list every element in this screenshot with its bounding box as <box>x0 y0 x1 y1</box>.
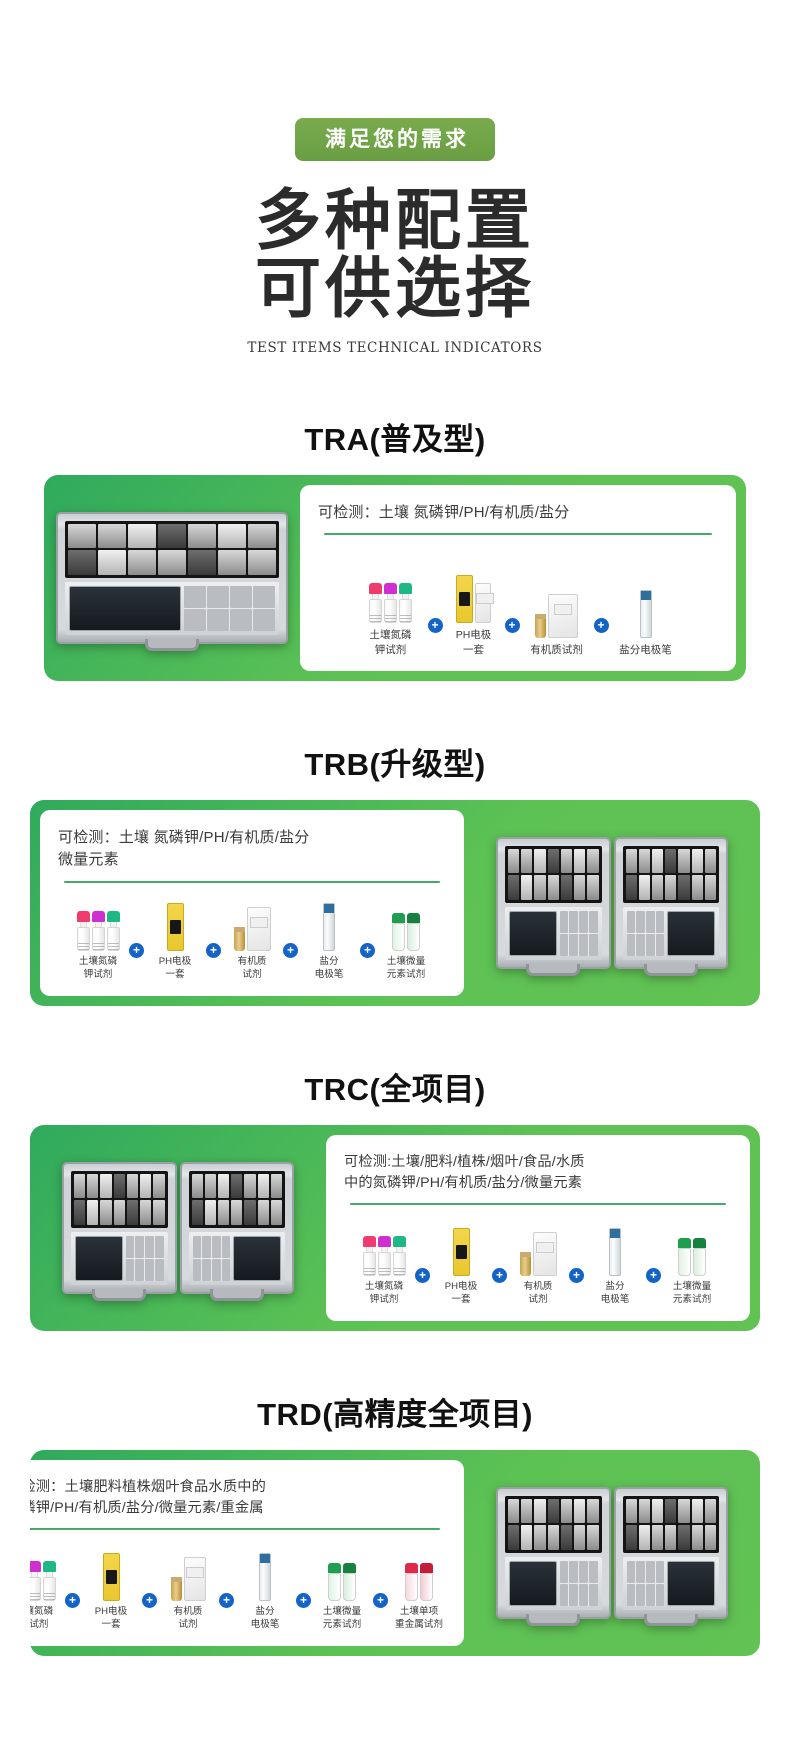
accessory-label: 土壤氮磷 钾试剂 <box>30 1606 61 1632</box>
accessory-item: 有机质 试剂 <box>161 1543 215 1632</box>
accessory-item: 土壤氮磷 钾试剂 <box>71 893 125 982</box>
plus-icon: + <box>283 943 298 958</box>
accessory-label: 土壤氮磷 钾试剂 <box>71 956 125 982</box>
accessory-label: 土壤氮磷 钾试剂 <box>358 628 424 656</box>
detect-text-tra: 可检测：土壤 氮磷钾/PH/有机质/盐分 <box>318 502 718 525</box>
detect-text-trd: 可检测：土壤肥料植株烟叶食品水质中的 氮磷钾/PH/有机质/盐分/微量元素/重金… <box>30 1477 446 1520</box>
model-heading-trd: TRD(高精度全项目) <box>0 1389 790 1434</box>
model-card-tra: 可检测：土壤 氮磷钾/PH/有机质/盐分 土壤氮磷 钾试剂 + PH电极 一套 … <box>44 475 746 681</box>
heavy-metal-reagent-icon <box>392 1543 446 1601</box>
model-card-trc: 可检测:土壤/肥料/植株/烟叶/食品/水质 中的氮磷钾/PH/有机质/盐分/微量… <box>30 1125 760 1331</box>
accessory-list-tra: 土壤氮磷 钾试剂 + PH电极 一套 + 有机质试剂 + 盐分电极笔 <box>318 535 718 659</box>
accessory-item: 盐分电极笔 <box>613 580 679 657</box>
accessory-item: PH电极 一套 <box>84 1543 138 1632</box>
plus-icon: + <box>492 1268 507 1283</box>
salinity-pen-icon <box>613 580 679 638</box>
salinity-pen-icon <box>588 1218 642 1276</box>
ph-electrode-icon <box>434 1218 488 1276</box>
plus-icon: + <box>206 943 221 958</box>
product-photo-trd <box>464 1450 760 1656</box>
accessory-item: 土壤氮磷 钾试剂 <box>30 1543 61 1632</box>
accessory-label: 盐分 电极笔 <box>238 1606 292 1632</box>
accessory-label: PH电极 一套 <box>84 1606 138 1632</box>
plus-icon: + <box>360 943 375 958</box>
accessory-label: 有机质 试剂 <box>161 1606 215 1632</box>
accessory-label: 土壤单项 重金属试剂 <box>392 1606 446 1632</box>
plus-icon: + <box>129 943 144 958</box>
hero-pill-badge: 满足您的需求 <box>295 118 495 161</box>
suitcase-icon <box>496 1487 728 1619</box>
trace-element-reagent-icon <box>315 1543 369 1601</box>
trace-element-reagent-icon <box>379 893 433 951</box>
accessory-item: PH电极 一套 <box>148 893 202 982</box>
reagent-bottles-icon <box>30 1543 61 1601</box>
trace-element-reagent-icon <box>665 1218 719 1276</box>
product-photo-tra <box>44 475 300 681</box>
model-info-tra: 可检测：土壤 氮磷钾/PH/有机质/盐分 土壤氮磷 钾试剂 + PH电极 一套 … <box>300 485 736 671</box>
plus-icon: + <box>415 1268 430 1283</box>
suitcase-icon <box>496 837 728 969</box>
suitcase-icon <box>56 512 288 644</box>
accessory-item: 土壤氮磷 钾试剂 <box>357 1218 411 1307</box>
plus-icon: + <box>569 1268 584 1283</box>
accessory-list-trc: 土壤氮磷 钾试剂 + PH电极 一套 + 有机质 试剂 + 盐分 电极笔 + <box>344 1205 732 1308</box>
detect-text-trb: 可检测：土壤 氮磷钾/PH/有机质/盐分 微量元素 <box>58 827 446 872</box>
accessory-item: 土壤微量 元素试剂 <box>315 1543 369 1632</box>
salinity-pen-icon <box>238 1543 292 1601</box>
accessory-item: 土壤氮磷 钾试剂 <box>358 565 424 656</box>
accessory-label: 有机质 试剂 <box>511 1281 565 1307</box>
model-heading-trb: TRB(升级型) <box>0 739 790 784</box>
accessory-label: 盐分 电极笔 <box>302 956 356 982</box>
accessory-item: 盐分 电极笔 <box>588 1218 642 1307</box>
ph-electrode-icon <box>84 1543 138 1601</box>
accessory-label: 土壤氮磷 钾试剂 <box>357 1281 411 1307</box>
page-subtitle: TEST ITEMS TECHNICAL INDICATORS <box>0 340 790 356</box>
model-card-trd: 可检测：土壤肥料植株烟叶食品水质中的 氮磷钾/PH/有机质/盐分/微量元素/重金… <box>30 1450 760 1656</box>
page-title: 多种配置 可供选择 <box>0 187 790 322</box>
page-title-line-2: 可供选择 <box>0 255 790 322</box>
plus-icon: + <box>428 618 443 633</box>
ph-electrode-icon <box>148 893 202 951</box>
accessory-item: 盐分 电极笔 <box>302 893 356 982</box>
reagent-bottles-icon <box>71 893 125 951</box>
accessory-label: PH电极 一套 <box>148 956 202 982</box>
organic-matter-reagent-icon <box>225 893 279 951</box>
accessory-item: 土壤微量 元素试剂 <box>379 893 433 982</box>
accessory-item: 有机质试剂 <box>524 580 590 657</box>
plus-icon: + <box>65 1593 80 1608</box>
accessory-label: PH电极 一套 <box>434 1281 488 1307</box>
organic-matter-reagent-icon <box>161 1543 215 1601</box>
suitcase-icon <box>62 1162 294 1294</box>
reagent-bottles-icon <box>358 565 424 623</box>
accessory-list-trd: 土壤氮磷 钾试剂 + PH电极 一套 + 有机质 试剂 + 盐分 电极笔 + <box>30 1530 446 1633</box>
accessory-item: 土壤单项 重金属试剂 <box>392 1543 446 1632</box>
plus-icon: + <box>646 1268 661 1283</box>
accessory-item: 土壤微量 元素试剂 <box>665 1218 719 1307</box>
accessory-label: 土壤微量 元素试剂 <box>315 1606 369 1632</box>
accessory-label: 盐分电极笔 <box>613 643 679 657</box>
accessory-item: 盐分 电极笔 <box>238 1543 292 1632</box>
plus-icon: + <box>594 618 609 633</box>
model-info-trd: 可检测：土壤肥料植株烟叶食品水质中的 氮磷钾/PH/有机质/盐分/微量元素/重金… <box>30 1460 464 1646</box>
accessory-item: 有机质 试剂 <box>511 1218 565 1307</box>
accessory-list-trb: 土壤氮磷 钾试剂 + PH电极 一套 + 有机质 试剂 + 盐分 电极笔 + <box>58 883 446 984</box>
accessory-label: 土壤微量 元素试剂 <box>379 956 433 982</box>
accessory-label: 有机质 试剂 <box>225 956 279 982</box>
page-title-line-1: 多种配置 <box>0 187 790 254</box>
accessory-label: 土壤微量 元素试剂 <box>665 1281 719 1307</box>
accessory-item: PH电极 一套 <box>434 1218 488 1307</box>
organic-matter-reagent-icon <box>524 580 590 638</box>
salinity-pen-icon <box>302 893 356 951</box>
plus-icon: + <box>505 618 520 633</box>
hero-section: 满足您的需求 多种配置 可供选择 TEST ITEMS TECHNICAL IN… <box>0 0 790 356</box>
model-info-trb: 可检测：土壤 氮磷钾/PH/有机质/盐分 微量元素 土壤氮磷 钾试剂 + PH电… <box>40 810 464 996</box>
product-photo-trb <box>464 800 760 1006</box>
detect-text-trc: 可检测:土壤/肥料/植株/烟叶/食品/水质 中的氮磷钾/PH/有机质/盐分/微量… <box>344 1152 732 1195</box>
plus-icon: + <box>296 1593 311 1608</box>
accessory-label: 盐分 电极笔 <box>588 1281 642 1307</box>
plus-icon: + <box>142 1593 157 1608</box>
accessory-item: 有机质 试剂 <box>225 893 279 982</box>
accessory-item: PH电极 一套 <box>447 565 501 656</box>
ph-electrode-icon <box>447 565 501 623</box>
model-heading-tra: TRA(普及型) <box>0 414 790 459</box>
footer-spacer <box>0 1656 790 1690</box>
accessory-label: PH电极 一套 <box>447 628 501 656</box>
plus-icon: + <box>219 1593 234 1608</box>
model-card-trb: 可检测：土壤 氮磷钾/PH/有机质/盐分 微量元素 土壤氮磷 钾试剂 + PH电… <box>30 800 760 1006</box>
plus-icon: + <box>373 1593 388 1608</box>
model-info-trc: 可检测:土壤/肥料/植株/烟叶/食品/水质 中的氮磷钾/PH/有机质/盐分/微量… <box>326 1135 750 1321</box>
accessory-label: 有机质试剂 <box>524 643 590 657</box>
product-photo-trc <box>30 1125 326 1331</box>
reagent-bottles-icon <box>357 1218 411 1276</box>
organic-matter-reagent-icon <box>511 1218 565 1276</box>
model-heading-trc: TRC(全项目) <box>0 1064 790 1109</box>
